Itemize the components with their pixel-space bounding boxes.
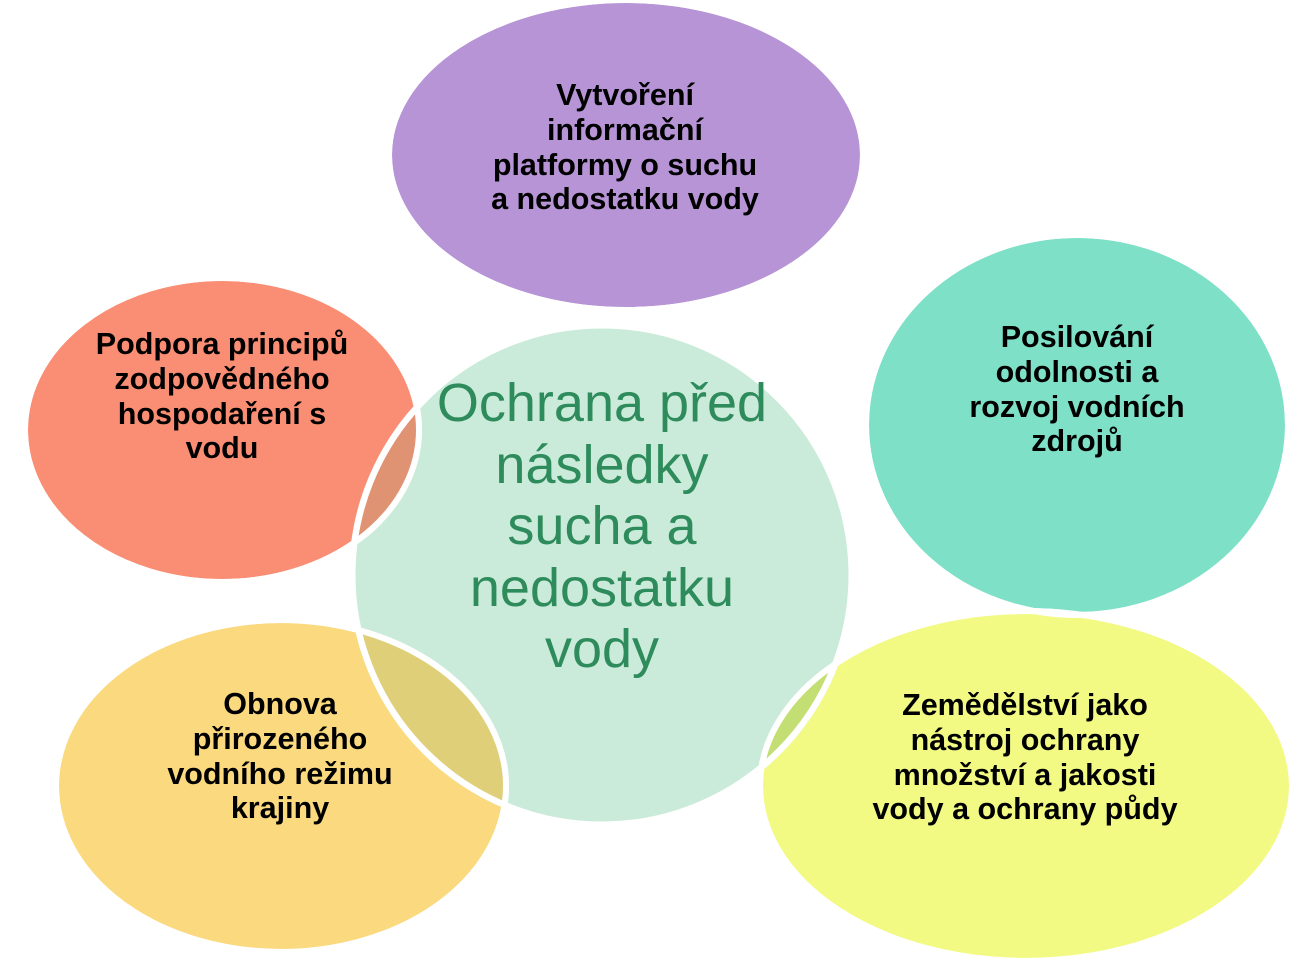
diagram-canvas: Vytvoření informační platformy o suchu a… <box>0 0 1308 959</box>
venn-diagram-graphic <box>0 0 1308 959</box>
